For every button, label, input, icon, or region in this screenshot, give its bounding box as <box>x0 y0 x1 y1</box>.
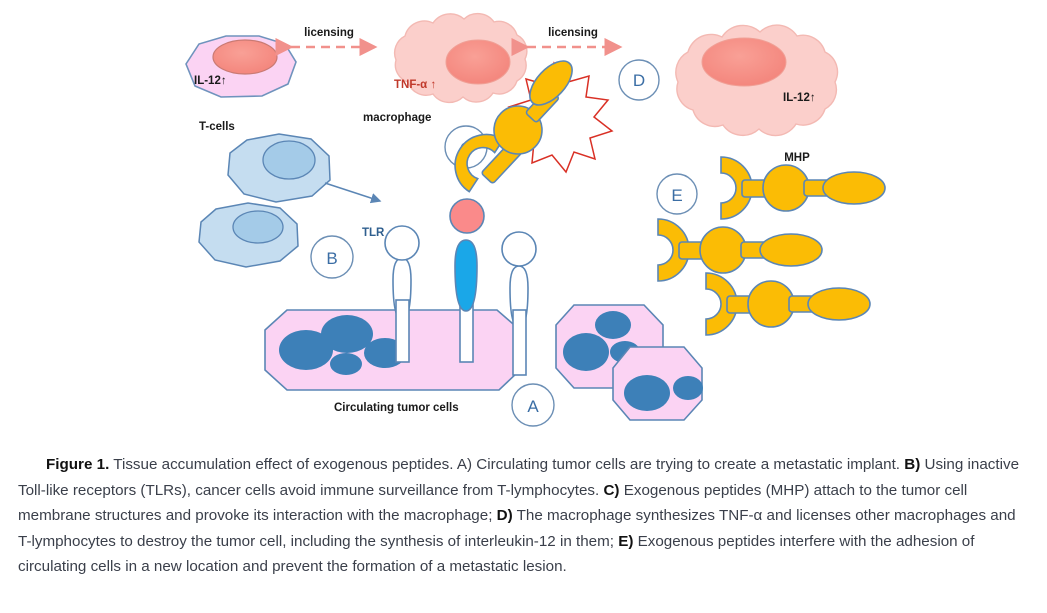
caption-panel-letter: B) <box>904 456 920 473</box>
macrophage-nucleus <box>446 40 510 84</box>
t-cells-label: T-cells <box>199 121 235 133</box>
callout-b-letter: B <box>326 249 337 268</box>
diagram-canvas: IL-12↑ licensing TNF-α ↑ macrophage lice… <box>0 0 1047 448</box>
macrophage-label: macrophage <box>363 112 431 124</box>
licensing-arrow-right: licensing <box>527 27 620 47</box>
figure-page: IL-12↑ licensing TNF-α ↑ macrophage lice… <box>0 0 1047 613</box>
callout-a-letter: A <box>527 397 539 416</box>
caption-panel-letter: E) <box>618 533 633 550</box>
lymphocyte-il12-left: IL-12↑ <box>186 36 296 97</box>
t-cell-upper-nucleus <box>263 141 315 179</box>
mhp-sphere <box>700 227 746 273</box>
caption-body: Tissue accumulation effect of exogenous … <box>18 456 1019 575</box>
callout-d-letter: D <box>633 71 645 90</box>
macrophage-center: TNF-α ↑ macrophage <box>363 14 527 124</box>
tnf-alpha-label: TNF-α ↑ <box>394 79 436 91</box>
macrophage-right: IL-12↑ <box>676 25 838 135</box>
figure-number: Figure 1. <box>46 456 109 473</box>
caption-text-run: Tissue accumulation effect of exogenous … <box>109 456 904 473</box>
lymphocyte-nucleus <box>213 40 277 74</box>
tumor-cell-main: Circulating tumor cells <box>265 310 520 414</box>
callout-e[interactable]: E <box>657 174 697 214</box>
tlr-center-stalk-active <box>455 240 477 311</box>
tlr-label: TLR <box>362 227 385 239</box>
callout-b[interactable]: B <box>311 236 353 278</box>
figure-image: IL-12↑ licensing TNF-α ↑ macrophage lice… <box>0 0 1047 448</box>
tumor-nucleus <box>321 315 373 353</box>
tumor-nucleus <box>673 376 703 400</box>
figure-caption: Figure 1. Tissue accumulation effect of … <box>0 452 1047 613</box>
macrophage-right-nucleus <box>702 38 786 86</box>
tlr-left-shaft <box>396 300 409 362</box>
mhp-sphere <box>763 165 809 211</box>
caption-panel-letter: C) <box>603 482 619 499</box>
licensing-arrow-left: licensing <box>291 27 375 47</box>
tumor-nucleus <box>624 375 670 411</box>
mhp-sphere <box>748 281 794 327</box>
caption-paragraph: Figure 1. Tissue accumulation effect of … <box>18 452 1029 580</box>
tlr-right-shaft <box>513 310 526 375</box>
circulating-tumor-cells-label: Circulating tumor cells <box>334 402 459 414</box>
il12-left-label: IL-12↑ <box>194 75 227 87</box>
tumor-nucleus <box>595 311 631 339</box>
licensing-left-label: licensing <box>304 27 354 39</box>
t-cell-arrow <box>325 183 380 201</box>
t-cells-group: T-cells <box>199 121 380 267</box>
mhp-peptide-2 <box>658 219 822 281</box>
licensing-right-label: licensing <box>548 27 598 39</box>
mhp-free-peptides: MHP <box>658 152 885 335</box>
callout-d[interactable]: D <box>619 60 659 100</box>
mhp-label: MHP <box>784 152 810 164</box>
mhp-tip-ellipse <box>823 172 885 204</box>
mhp-tip-ellipse <box>760 234 822 266</box>
callout-e-letter: E <box>671 186 682 205</box>
mhp-peptide-3 <box>706 273 870 335</box>
tumor-nucleus <box>330 353 362 375</box>
mhp-peptide-1 <box>721 157 885 219</box>
caption-panel-letter: D) <box>497 507 513 524</box>
tlr-center-head-active <box>450 199 484 233</box>
tlr-right-head <box>502 232 536 266</box>
t-cell-lower-nucleus <box>233 211 283 243</box>
callout-a[interactable]: A <box>512 384 554 426</box>
il12-right-label: IL-12↑ <box>783 92 816 104</box>
tumor-nucleus <box>563 333 609 371</box>
tlr-left-head <box>385 226 419 260</box>
tumor-cell-pair-right <box>556 305 703 420</box>
mhp-tip-ellipse <box>808 288 870 320</box>
